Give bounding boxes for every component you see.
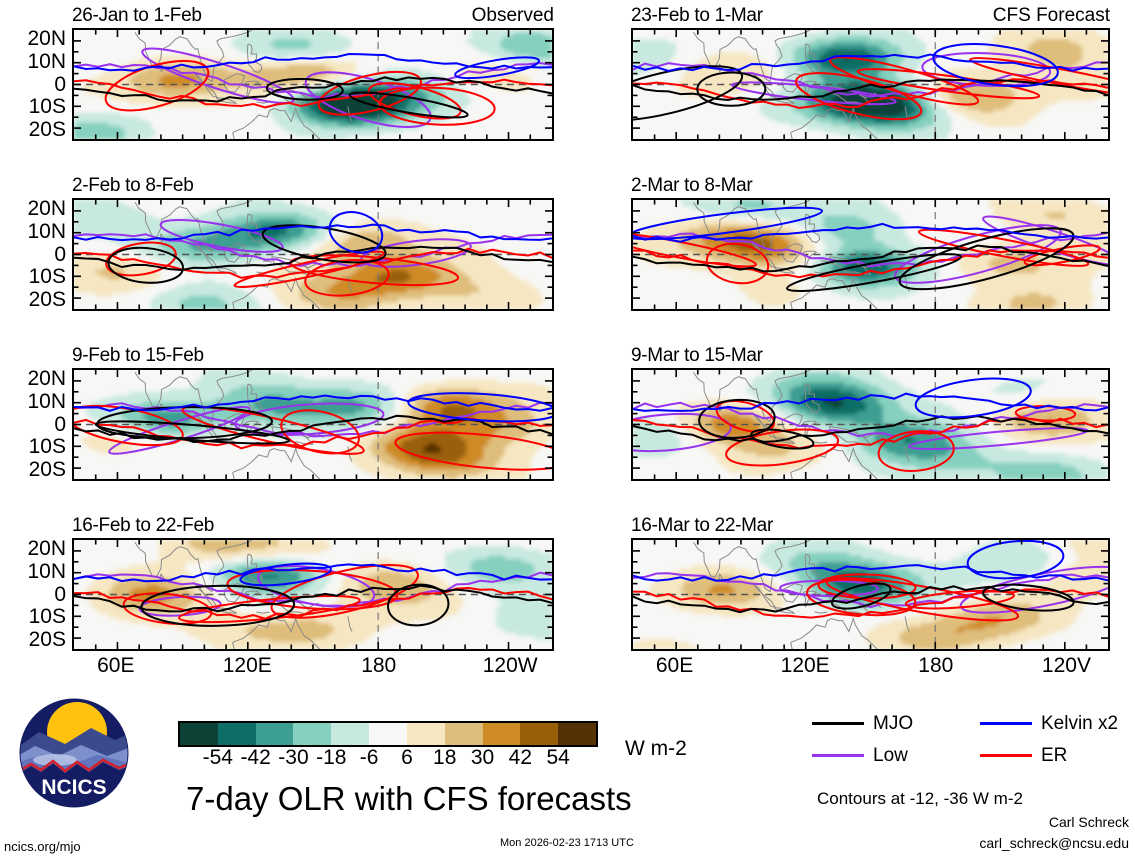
legend-item: Kelvin x2 (980, 714, 1118, 733)
colorbar: -54-42-30-18-6618304254 (178, 721, 598, 747)
colorbar-band (407, 723, 445, 745)
generation-timestamp: Mon 2026-02-23 1713 UTC (500, 838, 634, 849)
x-axis-tick-label: 180 (361, 655, 396, 676)
colorbar-band (483, 723, 521, 745)
legend-line-icon (980, 754, 1032, 757)
site-url: ncics.org/mjo (4, 840, 81, 853)
colorbar-band (218, 723, 256, 745)
y-axis-tick-label: 20S (0, 459, 66, 480)
map-plot-area (72, 368, 554, 481)
panel-title: 23-Feb to 1-Mar (631, 6, 763, 25)
y-axis-tick-label: 20N (0, 368, 66, 389)
colorbar-units-label: W m-2 (625, 738, 687, 759)
legend-line-icon (812, 722, 864, 725)
x-axis-tick-label: 180 (918, 655, 953, 676)
colorbar-band (256, 723, 294, 745)
y-axis-tick-label: 10N (0, 221, 66, 242)
logo-text: NCICS (41, 776, 106, 799)
y-axis-tick-label: 0 (0, 244, 66, 265)
colorbar-band (180, 723, 218, 745)
y-axis-tick-label: 20S (0, 629, 66, 650)
y-axis-tick-label: 10N (0, 51, 66, 72)
map-plot-area (72, 28, 554, 141)
map-plot-area (631, 538, 1110, 651)
colorbar-band (369, 723, 407, 745)
y-axis-tick-label: 20N (0, 538, 66, 559)
y-axis-tick-label: 20S (0, 119, 66, 140)
y-axis-tick-label: 20S (0, 289, 66, 310)
column-header: CFS Forecast (993, 6, 1110, 25)
y-axis-tick-label: 10S (0, 606, 66, 627)
y-axis-tick-label: 10N (0, 391, 66, 412)
x-axis-tick-label: 120E (223, 655, 272, 676)
legend-item: Low (812, 746, 908, 765)
panel-title: 9-Feb to 15-Feb (72, 346, 204, 365)
x-axis-tick-label: 120E (781, 655, 830, 676)
page-title: 7-day OLR with CFS forecasts (186, 782, 632, 815)
colorbar-tick-label: 54 (528, 747, 588, 768)
contour-level-note: Contours at -12, -36 W m-2 (817, 790, 1023, 807)
ncics-logo: NCICS (19, 698, 129, 808)
colorbar-swatches (178, 721, 598, 747)
map-plot-area (631, 368, 1110, 481)
y-axis-tick-label: 20N (0, 198, 66, 219)
legend-line-icon (812, 754, 864, 757)
panel-title: 9-Mar to 15-Mar (631, 346, 763, 365)
legend-item: MJO (812, 714, 913, 733)
column-header: Observed (472, 6, 554, 25)
colorbar-band (520, 723, 558, 745)
panel-title: 2-Feb to 8-Feb (72, 176, 193, 195)
y-axis-tick-label: 0 (0, 584, 66, 605)
panel-title: 16-Mar to 22-Mar (631, 516, 773, 535)
author-name: Carl Schreck (0, 815, 1129, 829)
colorbar-band (445, 723, 483, 745)
y-axis-tick-label: 10S (0, 266, 66, 287)
map-plot-area (72, 538, 554, 651)
panel-title: 16-Feb to 22-Feb (72, 516, 214, 535)
map-plot-area (72, 198, 554, 311)
colorbar-band (293, 723, 331, 745)
y-axis-tick-label: 10S (0, 96, 66, 117)
colorbar-band (331, 723, 369, 745)
map-plot-area (631, 198, 1110, 311)
panel-title: 26-Jan to 1-Feb (72, 6, 202, 25)
y-axis-tick-label: 10S (0, 436, 66, 457)
colorbar-band (558, 723, 596, 745)
x-axis-tick-label: 60E (97, 655, 134, 676)
legend-label: Low (873, 746, 908, 765)
panel-title: 2-Mar to 8-Mar (631, 176, 752, 195)
x-axis-tick-label: 120V (1042, 655, 1091, 676)
y-axis-tick-label: 0 (0, 414, 66, 435)
y-axis-tick-label: 10N (0, 561, 66, 582)
legend-label: ER (1041, 746, 1067, 765)
x-axis-tick-label: 60E (656, 655, 693, 676)
legend-line-icon (980, 722, 1032, 725)
legend-label: Kelvin x2 (1041, 714, 1118, 733)
y-axis-tick-label: 0 (0, 74, 66, 95)
y-axis-tick-label: 20N (0, 28, 66, 49)
legend-item: ER (980, 746, 1067, 765)
x-axis-tick-label: 120W (483, 655, 538, 676)
legend-label: MJO (873, 714, 913, 733)
map-plot-area (631, 28, 1110, 141)
